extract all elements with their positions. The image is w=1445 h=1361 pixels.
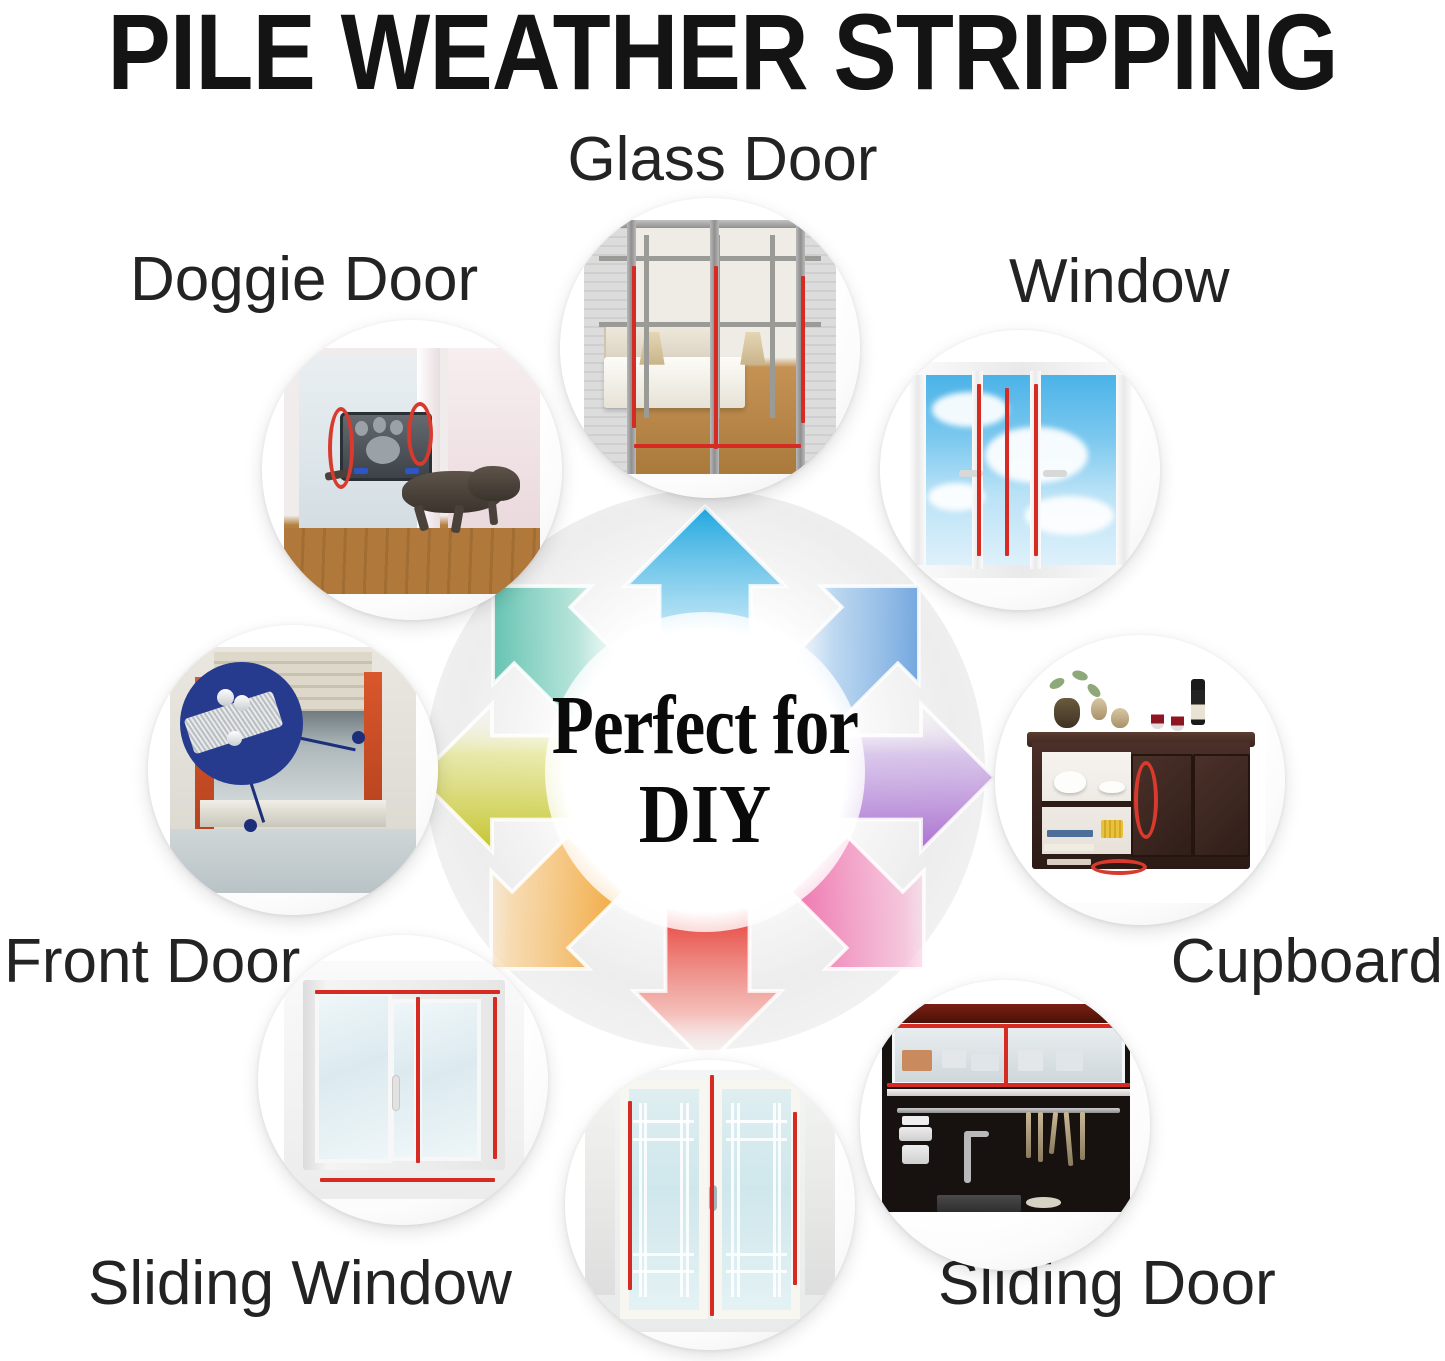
circle-sliding-door[interactable] (860, 980, 1150, 1270)
seal-line (793, 1112, 797, 1285)
circle-sliding-window[interactable] (258, 935, 548, 1225)
label-window: Window (1009, 250, 1230, 314)
seal-line (634, 444, 800, 448)
hub-line-1: Perfect for (500, 685, 910, 767)
seal-line (632, 266, 636, 429)
seal-line (1005, 388, 1009, 556)
label-sliding-window: Sliding Window (88, 1252, 512, 1316)
label-doggie-door: Doggie Door (130, 248, 478, 312)
sliding-door-photo (882, 1004, 1130, 1212)
seal-ellipse (1134, 761, 1158, 839)
circle-window[interactable] (880, 330, 1160, 610)
seal-line (801, 276, 805, 423)
seal-line (1034, 384, 1038, 557)
seal-line (628, 1101, 632, 1290)
window-photo (910, 362, 1132, 578)
hub-line-2: DIY (490, 767, 920, 863)
label-cupboard: Cupboard (1171, 930, 1443, 994)
seal-line (714, 266, 718, 449)
front-door-photo (170, 647, 416, 893)
zoom-callout (180, 662, 303, 785)
seal-line (493, 997, 497, 1159)
seal-ellipse (407, 402, 433, 466)
circle-frosted-door[interactable] (565, 1060, 855, 1350)
hub-text: Perfect for DIY (455, 685, 955, 863)
seal-line (1004, 1025, 1008, 1085)
doggie-door-photo (284, 348, 540, 594)
circle-doggie-door[interactable] (262, 320, 562, 620)
seal-line (977, 384, 981, 557)
circle-glass-door[interactable] (560, 198, 860, 498)
circle-front-door[interactable] (148, 625, 438, 915)
seal-line (315, 990, 500, 994)
frosted-door-photo (585, 1070, 835, 1332)
seal-line (416, 997, 420, 1164)
seal-line (892, 1024, 1125, 1028)
seal-line (887, 1083, 1130, 1087)
page-title: PILE WEATHER STRIPPING (87, 0, 1359, 106)
glass-door-photo (584, 220, 836, 474)
circle-cupboard[interactable] (995, 635, 1285, 925)
seal-line (710, 1075, 714, 1316)
cupboard-photo (1017, 659, 1265, 903)
label-front-door: Front Door (4, 930, 300, 994)
seal-ellipse (328, 407, 354, 489)
label-glass-door: Glass Door (0, 128, 1445, 192)
sliding-window-photo (284, 961, 524, 1199)
seal-line (320, 1178, 495, 1182)
